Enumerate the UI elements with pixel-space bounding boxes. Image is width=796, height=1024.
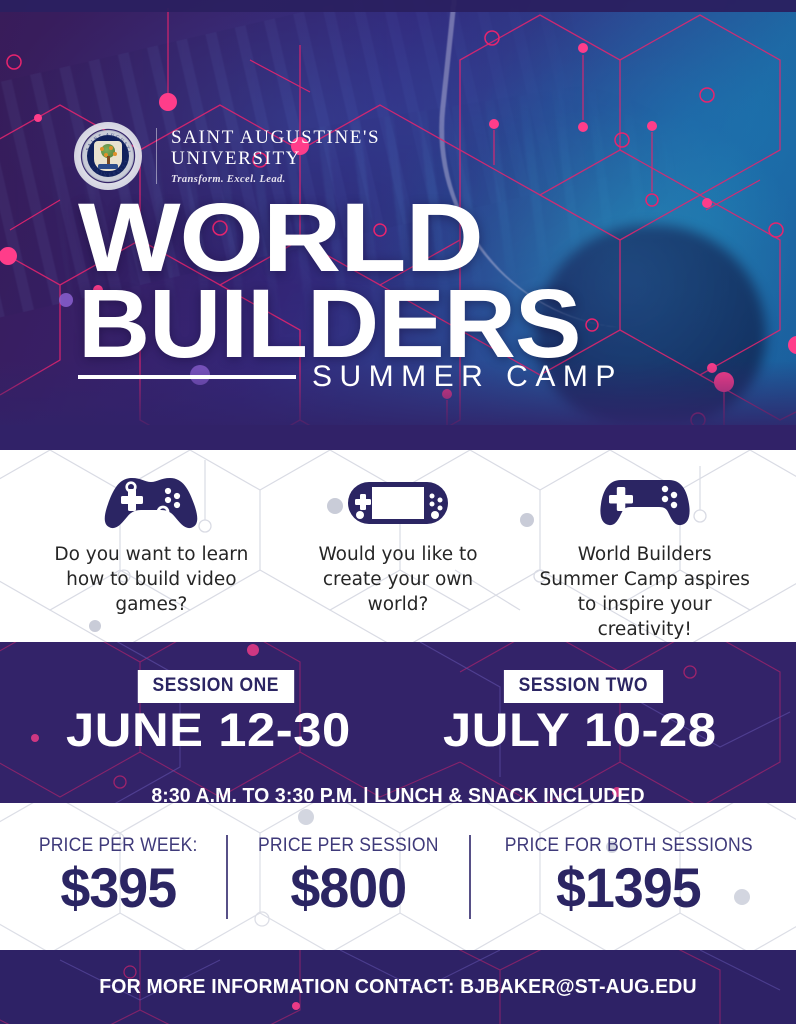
hero-top-strip [0,0,796,12]
features-section: Do you want to learn how to build video … [0,450,796,642]
price-label: PRICE PER SESSION [258,834,439,857]
university-name-line2: UNIVERSITY [171,148,380,169]
sessions-content [0,642,796,803]
feature-item: Do you want to learn how to build video … [28,474,275,642]
gamepad-icon [595,474,695,532]
price-row: PRICE PER WEEK: $395 PRICE PER SESSION $… [0,803,796,950]
contact-info: FOR MORE INFORMATION CONTACT: BJBAKER@ST… [20,950,776,1024]
hero-subtitle-row: SUMMER CAMP [78,360,638,394]
title-line-builders: BUILDERS [78,284,580,364]
university-logo-lockup: SAINT AUGUSTINE'S UNIVERSITY SAINT AUGUS… [74,122,380,190]
footer-section: FOR MORE INFORMATION CONTACT: BJBAKER@ST… [0,950,796,1024]
prices-section: PRICE PER WEEK: $395 PRICE PER SESSION $… [0,803,796,950]
xbox-controller-icon [101,474,201,532]
sessions-section [0,642,796,803]
price-divider [469,835,471,919]
price-divider [226,835,228,919]
price-label: PRICE FOR BOTH SESSIONS [505,834,753,857]
university-seal-icon: SAINT AUGUSTINE'S UNIVERSITY [74,122,142,190]
university-name-block: SAINT AUGUSTINE'S UNIVERSITY Transform. … [171,127,380,185]
feature-text: Do you want to learn how to build video … [44,542,259,617]
subtitle-rule [78,375,296,379]
university-name-line1: SAINT AUGUSTINE'S [171,127,380,148]
hero-bottom-band [0,425,796,450]
hero-section: SAINT AUGUSTINE'S UNIVERSITY SAINT AUGUS… [0,0,796,450]
logo-divider [156,128,157,184]
price-value: $395 [60,855,176,920]
handheld-console-icon [346,474,450,532]
price-value: $1395 [556,855,701,920]
feature-item: Would you like to create your own world? [275,474,522,642]
flyer-poster: SAINT AUGUSTINE'S UNIVERSITY SAINT AUGUS… [0,0,796,1024]
feature-item: World Builders Summer Camp aspires to in… [521,474,768,642]
price-column: PRICE PER WEEK: $395 [16,834,220,920]
price-label: PRICE PER WEEK: [39,834,198,857]
features-grid: Do you want to learn how to build video … [0,450,796,642]
hero-title: WORLD BUILDERS [78,198,566,363]
price-value: $800 [291,855,407,920]
price-column: PRICE FOR BOTH SESSIONS $1395 [477,834,780,920]
feature-text: World Builders Summer Camp aspires to in… [537,542,752,642]
hero-subtitle: SUMMER CAMP [312,360,623,394]
feature-text: Would you like to create your own world? [291,542,506,617]
price-column: PRICE PER SESSION $800 [234,834,463,920]
title-line-world: WORLD [78,198,624,278]
